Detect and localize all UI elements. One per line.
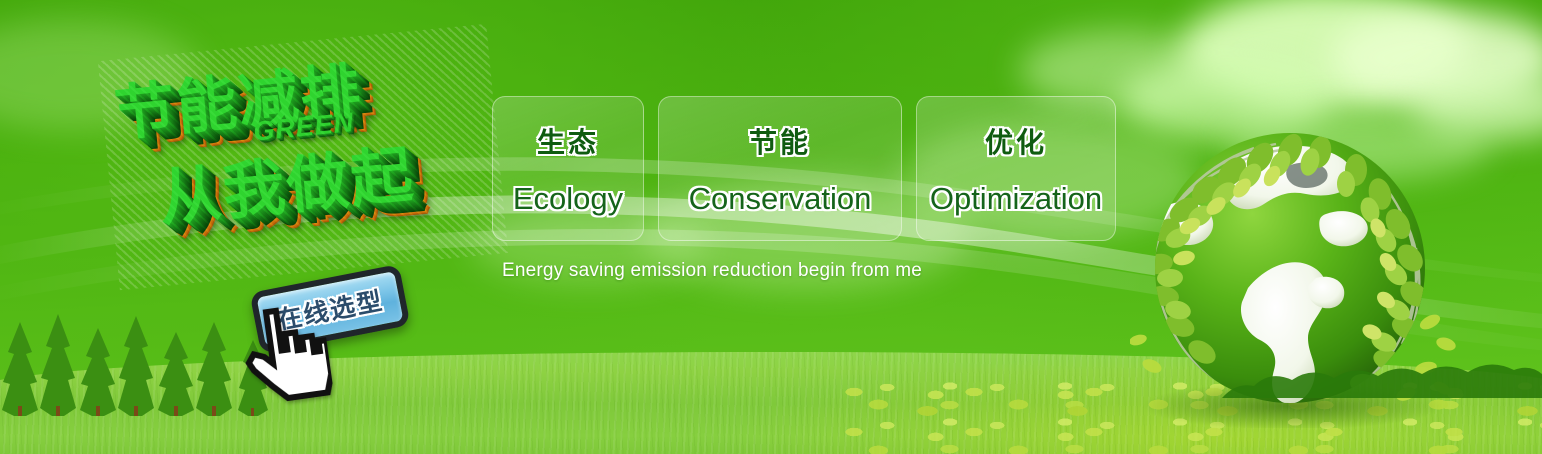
tagline-text: Energy saving emission reduction begin f… bbox=[502, 260, 922, 282]
feature-card-list: 生态 Ecology 节能 Conservation 优化 Optimizati… bbox=[492, 96, 1116, 241]
headline-3d-text: 节能减排 从我做起 GREEN bbox=[98, 24, 508, 290]
cloud-icon bbox=[1330, 10, 1542, 105]
feature-card-ecology[interactable]: 生态 Ecology bbox=[492, 96, 644, 241]
feature-card-en-label: Conservation bbox=[689, 181, 872, 217]
pointing-hand-cursor-icon bbox=[236, 300, 335, 407]
feature-card-conservation[interactable]: 节能 Conservation bbox=[658, 96, 902, 241]
cta-area: 在线选型 bbox=[254, 272, 424, 352]
shrub-cluster bbox=[1222, 342, 1542, 398]
feature-card-cn-label: 节能 bbox=[749, 121, 811, 161]
feature-card-en-label: Optimization bbox=[930, 181, 1102, 217]
feature-card-en-label: Ecology bbox=[513, 181, 623, 217]
feature-card-cn-label: 生态 bbox=[537, 121, 599, 161]
cloud-icon bbox=[1180, 0, 1470, 110]
feature-card-cn-label: 优化 bbox=[985, 121, 1047, 161]
feature-card-optimization[interactable]: 优化 Optimization bbox=[916, 96, 1116, 241]
eco-banner: 节能减排 从我做起 GREEN 生态 Ecology 节能 Conservati… bbox=[0, 0, 1542, 454]
